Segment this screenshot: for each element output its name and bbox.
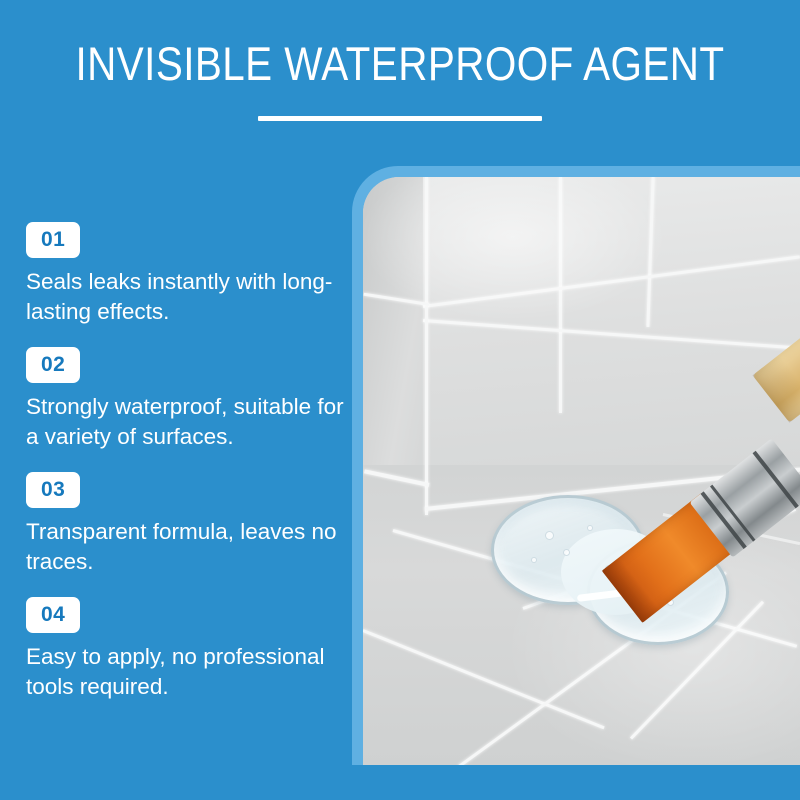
feature-number-badge: 01 (26, 222, 80, 258)
feature-description: Easy to apply, no professional tools req… (26, 642, 356, 702)
list-item: 02 Strongly waterproof, suitable for a v… (26, 347, 356, 452)
gel-bubble (545, 531, 554, 540)
paint-brush (585, 335, 800, 625)
grout-line-corner (425, 177, 428, 515)
gel-bubble (531, 557, 537, 563)
feature-number-badge: 02 (26, 347, 80, 383)
feature-description: Seals leaks instantly with long-lasting … (26, 267, 356, 327)
brush-handle-taper (753, 354, 800, 422)
page-title: INVISIBLE WATERPROOF AGENT (56, 36, 744, 92)
brush-bristle-tip (602, 557, 660, 623)
grout-line (559, 177, 562, 413)
feature-list: 01 Seals leaks instantly with long-lasti… (26, 222, 356, 722)
list-item: 01 Seals leaks instantly with long-lasti… (26, 222, 356, 327)
list-item: 04 Easy to apply, no professional tools … (26, 597, 356, 702)
feature-description: Strongly waterproof, suitable for a vari… (26, 392, 356, 452)
product-photo (363, 177, 800, 765)
ferrule-band (753, 451, 799, 509)
product-photo-frame (352, 166, 800, 765)
feature-number-badge: 04 (26, 597, 80, 633)
feature-description: Transparent formula, leaves no traces. (26, 517, 356, 577)
list-item: 03 Transparent formula, leaves no traces… (26, 472, 356, 577)
poster: INVISIBLE WATERPROOF AGENT 01 Seals leak… (0, 0, 800, 800)
feature-number-badge: 03 (26, 472, 80, 508)
gel-bubble (563, 549, 570, 556)
title-underline (258, 116, 542, 121)
